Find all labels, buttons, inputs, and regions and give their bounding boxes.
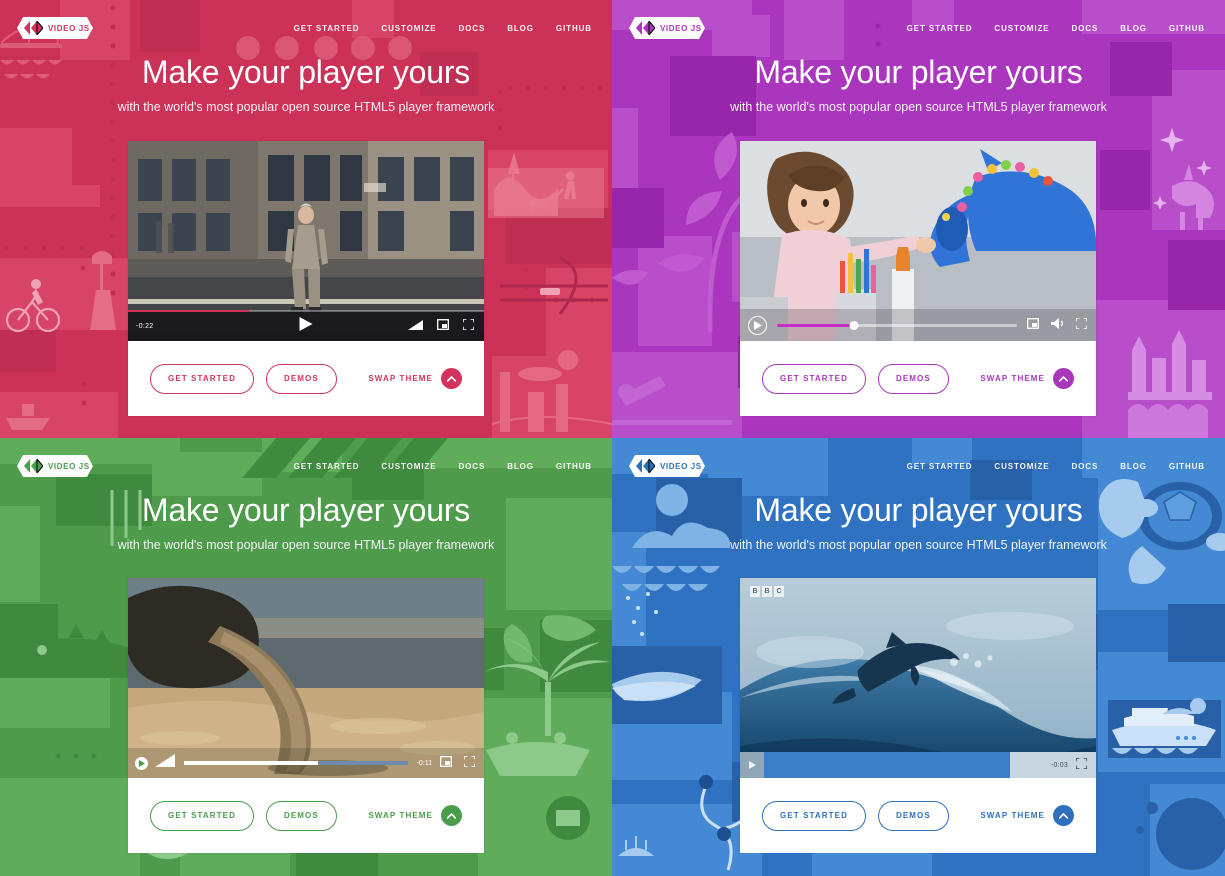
- progress-bar-red[interactable]: [128, 310, 484, 312]
- hero-blue: Make your player yours with the world's …: [612, 494, 1225, 552]
- chevron-up-icon[interactable]: [1053, 368, 1074, 389]
- nav-customize[interactable]: CUSTOMIZE: [994, 24, 1049, 33]
- get-started-button[interactable]: GET STARTED: [762, 364, 866, 394]
- play-button[interactable]: [300, 317, 313, 336]
- panel-purple: VIDEO JS GET STARTED CUSTOMIZE DOCS BLOG…: [612, 0, 1225, 438]
- nav-blog[interactable]: BLOG: [1120, 462, 1147, 471]
- swap-theme-label: SWAP THEME: [368, 811, 433, 820]
- nav-docs[interactable]: DOCS: [458, 24, 485, 33]
- volume-icon[interactable]: [155, 754, 175, 772]
- player-controls-green[interactable]: -0:11: [128, 748, 484, 778]
- videojs-logo[interactable]: VIDEO JS: [629, 455, 705, 477]
- page-subtitle: with the world's most popular open sourc…: [612, 538, 1225, 552]
- demos-button[interactable]: DEMOS: [266, 364, 337, 394]
- swap-theme-label: SWAP THEME: [368, 374, 433, 383]
- bbc-letter-b2: B: [762, 586, 772, 597]
- bbc-watermark: B B C: [750, 586, 784, 597]
- site-header-purple: VIDEO JS GET STARTED CUSTOMIZE DOCS BLOG…: [612, 0, 1225, 56]
- nav-github[interactable]: GITHUB: [1169, 462, 1205, 471]
- swap-theme-control[interactable]: SWAP THEME: [368, 368, 462, 389]
- picture-in-picture-icon[interactable]: [440, 754, 452, 772]
- bbc-letter-b1: B: [750, 586, 760, 597]
- time-remaining: -0:22: [136, 323, 153, 330]
- volume-icon[interactable]: [408, 317, 423, 335]
- videojs-play-mark-icon: [636, 459, 655, 473]
- main-nav-red: GET STARTED CUSTOMIZE DOCS BLOG GITHUB: [294, 24, 592, 33]
- nav-customize[interactable]: CUSTOMIZE: [381, 462, 436, 471]
- player-card-blue: B B C -0:03: [740, 578, 1096, 853]
- main-nav-blue: GET STARTED CUSTOMIZE DOCS BLOG GITHUB: [907, 462, 1205, 471]
- player-controls-red[interactable]: -0:22: [128, 311, 484, 341]
- nav-customize[interactable]: CUSTOMIZE: [994, 462, 1049, 471]
- fullscreen-icon[interactable]: [1076, 316, 1087, 334]
- player-card-red: -0:22: [128, 141, 484, 416]
- nav-docs[interactable]: DOCS: [458, 462, 485, 471]
- video-player-purple[interactable]: [740, 141, 1096, 341]
- card-actions-red: GET STARTED DEMOS SWAP THEME: [128, 341, 484, 416]
- demos-button[interactable]: DEMOS: [878, 801, 949, 831]
- player-card-green: -0:11 GET STARTED DEMOS SWAP THEME: [128, 578, 484, 853]
- chevron-up-icon[interactable]: [441, 368, 462, 389]
- card-actions-purple: GET STARTED DEMOS SWAP THEME: [740, 341, 1096, 416]
- player-controls-blue[interactable]: -0:03: [740, 752, 1096, 778]
- video-player-green[interactable]: -0:11: [128, 578, 484, 778]
- nav-github[interactable]: GITHUB: [556, 24, 592, 33]
- card-actions-green: GET STARTED DEMOS SWAP THEME: [128, 778, 484, 853]
- card-actions-blue: GET STARTED DEMOS SWAP THEME: [740, 778, 1096, 853]
- site-header-red: VIDEO JS GET STARTED CUSTOMIZE DOCS BLOG…: [0, 0, 612, 56]
- page-subtitle: with the world's most popular open sourc…: [612, 100, 1225, 114]
- video-player-blue[interactable]: B B C -0:03: [740, 578, 1096, 778]
- nav-docs[interactable]: DOCS: [1071, 462, 1098, 471]
- picture-in-picture-icon[interactable]: [1027, 316, 1039, 334]
- hero-purple: Make your player yours with the world's …: [612, 56, 1225, 114]
- fullscreen-icon[interactable]: [1076, 756, 1087, 774]
- nav-blog[interactable]: BLOG: [1120, 24, 1147, 33]
- page-title: Make your player yours: [0, 56, 612, 90]
- progress-bar-blue[interactable]: [764, 752, 1043, 778]
- chevron-up-icon[interactable]: [1053, 805, 1074, 826]
- play-button[interactable]: [748, 316, 767, 335]
- swap-theme-label: SWAP THEME: [980, 374, 1045, 383]
- picture-in-picture-icon[interactable]: [437, 317, 449, 335]
- nav-get-started[interactable]: GET STARTED: [907, 24, 973, 33]
- time-remaining: -0:03: [1051, 762, 1068, 769]
- videojs-logo[interactable]: VIDEO JS: [17, 455, 93, 477]
- player-card-purple: GET STARTED DEMOS SWAP THEME: [740, 141, 1096, 416]
- progress-bar-green[interactable]: [184, 761, 408, 765]
- page-subtitle: with the world's most popular open sourc…: [0, 538, 612, 552]
- swap-theme-control[interactable]: SWAP THEME: [980, 805, 1074, 826]
- nav-github[interactable]: GITHUB: [1169, 24, 1205, 33]
- main-nav-green: GET STARTED CUSTOMIZE DOCS BLOG GITHUB: [294, 462, 592, 471]
- fullscreen-icon[interactable]: [463, 317, 474, 335]
- nav-blog[interactable]: BLOG: [507, 24, 534, 33]
- get-started-button[interactable]: GET STARTED: [150, 801, 254, 831]
- demos-button[interactable]: DEMOS: [878, 364, 949, 394]
- logo-text: VIDEO JS: [660, 462, 702, 471]
- demos-button[interactable]: DEMOS: [266, 801, 337, 831]
- get-started-button[interactable]: GET STARTED: [150, 364, 254, 394]
- chevron-up-icon[interactable]: [441, 805, 462, 826]
- logo-text: VIDEO JS: [48, 24, 90, 33]
- swap-theme-label: SWAP THEME: [980, 811, 1045, 820]
- swap-theme-control[interactable]: SWAP THEME: [980, 368, 1074, 389]
- swap-theme-control[interactable]: SWAP THEME: [368, 805, 462, 826]
- videojs-play-mark-icon: [24, 21, 43, 35]
- videojs-logo[interactable]: VIDEO JS: [17, 17, 93, 39]
- nav-get-started[interactable]: GET STARTED: [294, 24, 360, 33]
- play-button[interactable]: [135, 757, 148, 770]
- progress-bar-purple[interactable]: [777, 324, 1017, 327]
- fullscreen-icon[interactable]: [464, 754, 475, 772]
- nav-customize[interactable]: CUSTOMIZE: [381, 24, 436, 33]
- videojs-play-mark-icon: [636, 21, 655, 35]
- panel-blue: VIDEO JS GET STARTED CUSTOMIZE DOCS BLOG…: [612, 438, 1225, 876]
- page-subtitle: with the world's most popular open sourc…: [0, 100, 612, 114]
- get-started-button[interactable]: GET STARTED: [762, 801, 866, 831]
- site-header-green: VIDEO JS GET STARTED CUSTOMIZE DOCS BLOG…: [0, 438, 612, 494]
- panel-red: VIDEO JS GET STARTED CUSTOMIZE DOCS BLOG…: [0, 0, 612, 438]
- nav-docs[interactable]: DOCS: [1071, 24, 1098, 33]
- hero-red: Make your player yours with the world's …: [0, 56, 612, 114]
- volume-icon[interactable]: [1051, 316, 1064, 334]
- player-controls-purple[interactable]: [740, 309, 1096, 341]
- theme-variation-grid: VIDEO JS GET STARTED CUSTOMIZE DOCS BLOG…: [0, 0, 1225, 876]
- videojs-logo[interactable]: VIDEO JS: [629, 17, 705, 39]
- play-button[interactable]: [740, 752, 764, 778]
- bbc-letter-c: C: [774, 586, 784, 597]
- nav-blog[interactable]: BLOG: [507, 462, 534, 471]
- hero-green: Make your player yours with the world's …: [0, 494, 612, 552]
- nav-get-started[interactable]: GET STARTED: [907, 462, 973, 471]
- page-title: Make your player yours: [612, 56, 1225, 90]
- videojs-play-mark-icon: [24, 459, 43, 473]
- main-nav-purple: GET STARTED CUSTOMIZE DOCS BLOG GITHUB: [907, 24, 1205, 33]
- time-remaining: -0:11: [417, 760, 432, 767]
- page-title: Make your player yours: [612, 494, 1225, 528]
- video-player-red[interactable]: -0:22: [128, 141, 484, 341]
- logo-text: VIDEO JS: [48, 462, 90, 471]
- logo-text: VIDEO JS: [660, 24, 702, 33]
- page-title: Make your player yours: [0, 494, 612, 528]
- nav-get-started[interactable]: GET STARTED: [294, 462, 360, 471]
- panel-green: VIDEO JS GET STARTED CUSTOMIZE DOCS BLOG…: [0, 438, 612, 876]
- site-header-blue: VIDEO JS GET STARTED CUSTOMIZE DOCS BLOG…: [612, 438, 1225, 494]
- video-still-dolphin-wave: [740, 578, 1096, 778]
- nav-github[interactable]: GITHUB: [556, 462, 592, 471]
